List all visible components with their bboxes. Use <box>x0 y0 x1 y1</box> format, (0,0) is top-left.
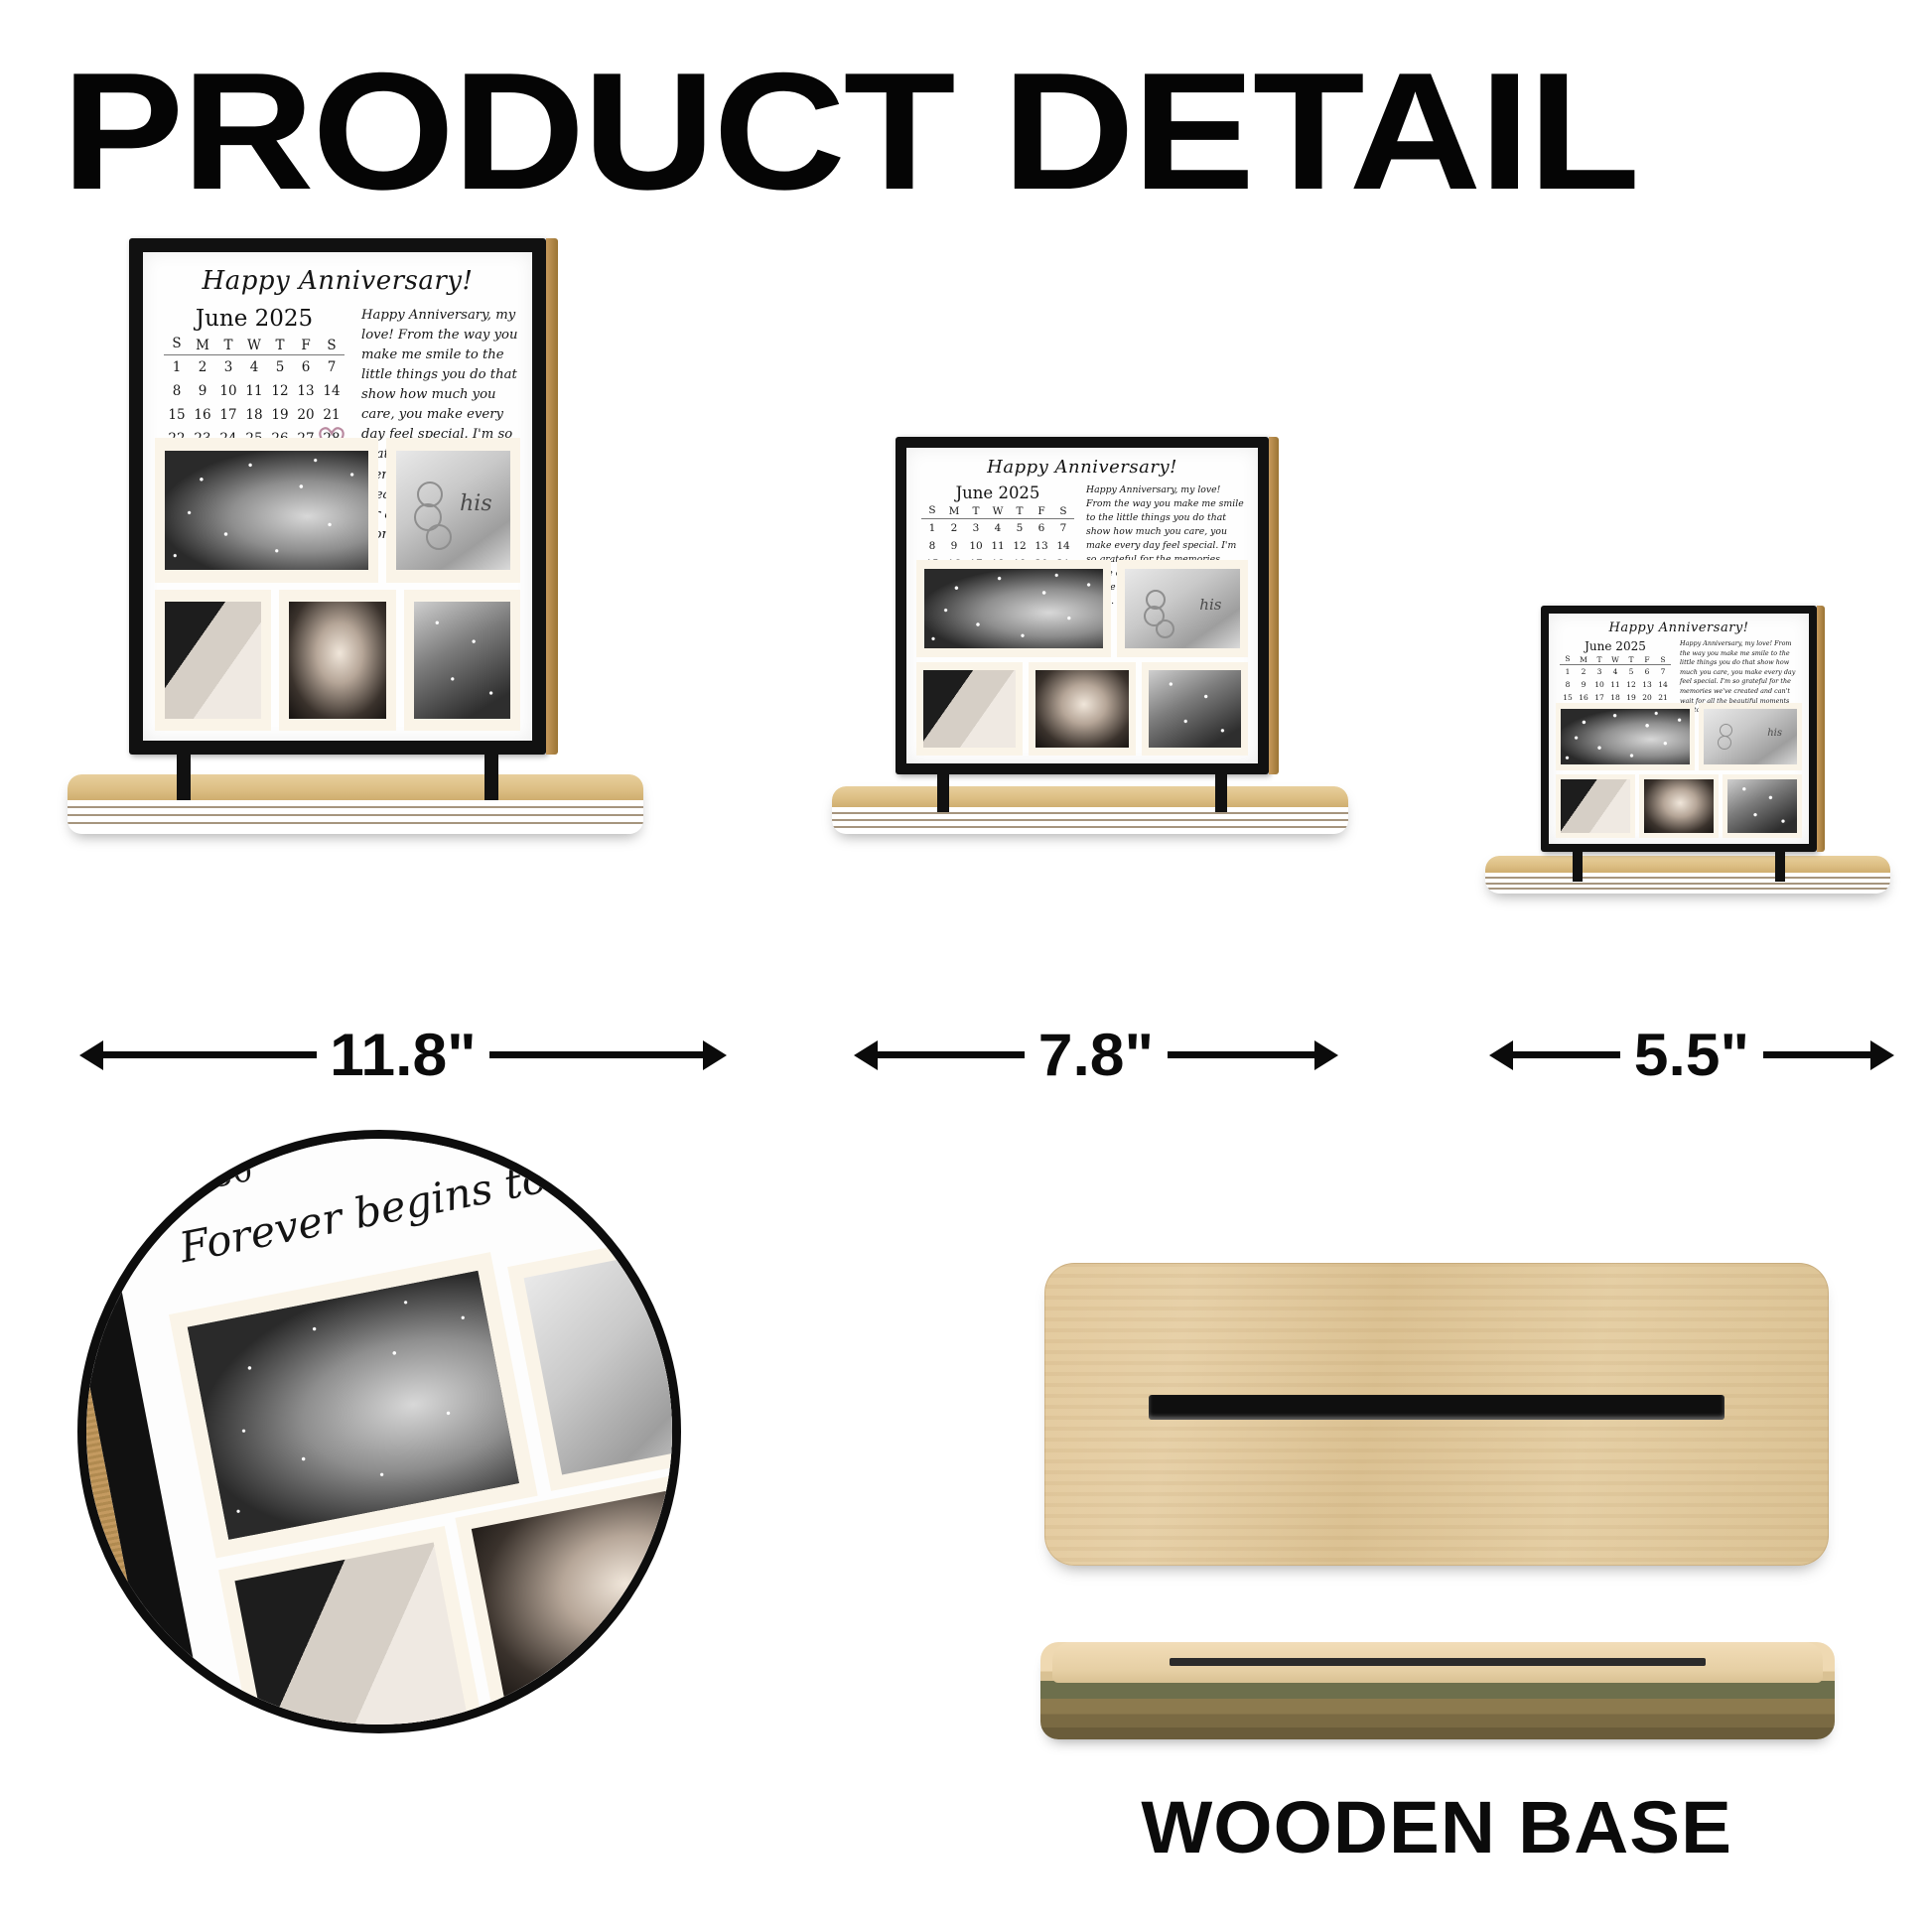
calendar-month-year-medium: June 2025 <box>917 483 1078 502</box>
wooden-base-side-view <box>1040 1642 1835 1739</box>
table-row: 891011121314 <box>921 537 1074 555</box>
kiss-photo <box>472 1477 681 1714</box>
photo-collage-medium: his <box>916 560 1248 756</box>
day-cell: 16 <box>190 403 215 427</box>
photo-mat: his <box>386 438 520 583</box>
arrow-left-icon <box>79 1040 103 1070</box>
kiss-photo <box>1644 779 1714 833</box>
first-dance-photo <box>1149 670 1241 748</box>
day-cell: 6 <box>1639 665 1655 679</box>
photo-mat <box>916 662 1023 756</box>
photo-mat <box>404 590 520 731</box>
weekday-m: M <box>190 336 215 355</box>
day-cell: 4 <box>987 519 1009 538</box>
day-cell: 9 <box>190 379 215 403</box>
weekday-t2: T <box>1009 504 1031 519</box>
base-slot-side <box>1170 1658 1706 1666</box>
confetti-exit-photo <box>1561 709 1690 764</box>
photo-mat: his <box>1699 703 1802 770</box>
calendar-header-row: S M T W T F S <box>1560 654 1671 665</box>
calendar-header-row: S M T W T F S <box>164 336 345 355</box>
first-dance-photo <box>414 602 510 719</box>
kiss-photo <box>1035 670 1128 748</box>
arrow-right-icon <box>1314 1040 1338 1070</box>
frame-wood-edge <box>1817 606 1825 852</box>
day-cell: 2 <box>943 519 965 538</box>
day-cell: 4 <box>1607 665 1623 679</box>
day-cell: 8 <box>164 379 190 403</box>
card-heading: Happy Anniversary! <box>143 266 532 296</box>
photo-mat <box>279 590 395 731</box>
day-cell: 1 <box>164 355 190 380</box>
confetti-exit-photo <box>165 451 368 570</box>
table-row: 1234567 <box>164 355 345 380</box>
day-cell: 5 <box>1009 519 1031 538</box>
dimension-label: 7.8" <box>1022 1021 1171 1089</box>
day-cell: 19 <box>267 403 293 427</box>
day-cell: 12 <box>1623 678 1639 691</box>
frame-wood-edge <box>546 238 558 755</box>
photo-mat: his <box>1117 560 1248 657</box>
arrow-left-icon <box>1489 1040 1513 1070</box>
holding-hands-photo <box>165 602 261 719</box>
photo-mat <box>916 560 1111 657</box>
his-hers-rings-photo: his <box>1125 569 1240 648</box>
day-cell: 8 <box>1560 678 1576 691</box>
day-cell: 10 <box>215 379 241 403</box>
day-cell: 17 <box>215 403 241 427</box>
weekday-w: W <box>987 504 1009 519</box>
wooden-base-label: WOODEN BASE <box>1141 1785 1732 1869</box>
day-cell: 11 <box>987 537 1009 555</box>
card-heading-small: Happy Anniversary! <box>1549 621 1809 635</box>
weekday-w: W <box>241 336 267 355</box>
kiss-photo <box>289 602 385 719</box>
arrow-right-icon <box>1870 1040 1894 1070</box>
photo-caption: his <box>1199 596 1221 614</box>
weekday-t2: T <box>1623 654 1639 665</box>
dimension-small: 5.5" <box>1489 1021 1886 1089</box>
photo-mat <box>1556 703 1695 770</box>
dimension-label: 11.8" <box>314 1021 493 1089</box>
weekday-f: F <box>1639 654 1655 665</box>
photo-collage-large: his <box>155 438 520 731</box>
day-cell: 2 <box>190 355 215 380</box>
confetti-exit-photo <box>188 1271 519 1540</box>
product-size-medium: Happy Anniversary! June 2025 S M T W T F… <box>824 437 1360 834</box>
card-heading-medium: Happy Anniversary! <box>906 457 1258 478</box>
day-cell: 13 <box>1031 537 1052 555</box>
picture-frame-large: Happy Anniversary! June 2025 S M T W T F… <box>129 238 546 755</box>
weekday-t1: T <box>965 504 987 519</box>
picture-frame-small: Happy Anniversary! June 2025 S M T W T F… <box>1541 606 1817 852</box>
day-cell: 3 <box>215 355 241 380</box>
day-cell: 4 <box>241 355 267 380</box>
weekday-s: S <box>1560 654 1576 665</box>
photo-caption: his <box>1767 728 1782 739</box>
day-cell: 9 <box>943 537 965 555</box>
day-cell: 15 <box>164 403 190 427</box>
weekday-t2: T <box>267 336 293 355</box>
picture-frame-medium: Happy Anniversary! June 2025 S M T W T F… <box>896 437 1269 774</box>
calendar-month-year-small: June 2025 <box>1557 639 1674 653</box>
day-cell: 12 <box>1009 537 1031 555</box>
day-cell: 3 <box>1591 665 1607 679</box>
page-title: PRODUCT DETAIL <box>62 48 1932 214</box>
arrow-left-icon <box>854 1040 878 1070</box>
day-cell: 12 <box>267 379 293 403</box>
dimension-large: 11.8" <box>79 1021 774 1089</box>
day-cell: 2 <box>1576 665 1591 679</box>
photo-mat <box>1029 662 1135 756</box>
frame-wood-edge <box>1269 437 1279 774</box>
weekday-f: F <box>293 336 319 355</box>
day-cell: 20 <box>293 403 319 427</box>
day-cell: 14 <box>319 379 345 403</box>
photo-collage-small: his <box>1556 703 1802 838</box>
day-cell: 6 <box>293 355 319 380</box>
base-slot <box>1149 1395 1725 1420</box>
holding-hands-photo <box>235 1542 469 1733</box>
product-size-large: Happy Anniversary! June 2025 S M T W T F… <box>60 238 655 834</box>
card-sheet-small: Happy Anniversary! June 2025 S M T W T F… <box>1549 614 1809 844</box>
card-sheet-medium: Happy Anniversary! June 2025 S M T W T F… <box>906 448 1258 763</box>
weekday-s2: S <box>1655 654 1671 665</box>
arrow-right-icon <box>703 1040 727 1070</box>
table-row: 891011121314 <box>164 379 345 403</box>
calendar-month-year: June 2025 <box>157 306 351 332</box>
weekday-s2: S <box>319 336 345 355</box>
weekday-t1: T <box>1591 654 1607 665</box>
dimension-medium: 7.8" <box>854 1021 1370 1089</box>
photo-caption: his <box>460 491 492 516</box>
table-row: 1234567 <box>921 519 1074 538</box>
table-row: 1234567 <box>1560 665 1671 679</box>
day-cell: 13 <box>1639 678 1655 691</box>
calendar-header-row: S M T W T F S <box>921 504 1074 519</box>
day-cell: 18 <box>241 403 267 427</box>
day-cell: 5 <box>267 355 293 380</box>
weekday-s2: S <box>1052 504 1074 519</box>
product-size-small: Happy Anniversary! June 2025 S M T W T F… <box>1479 606 1896 894</box>
weekday-f: F <box>1031 504 1052 519</box>
his-hers-rings-photo: his <box>1704 709 1797 764</box>
card-sheet-large: Happy Anniversary! June 2025 S M T W T F… <box>143 252 532 741</box>
weekday-t1: T <box>215 336 241 355</box>
holding-hands-photo <box>923 670 1016 748</box>
confetti-exit-photo <box>924 569 1103 648</box>
day-cell: 6 <box>1031 519 1052 538</box>
photo-mat <box>1639 774 1719 838</box>
day-cell: 11 <box>241 379 267 403</box>
day-cell: 11 <box>1607 678 1623 691</box>
weekday-m: M <box>1576 654 1591 665</box>
wooden-base-top-view <box>1044 1263 1829 1566</box>
photo-mat <box>1556 774 1635 838</box>
dimension-label: 5.5" <box>1617 1021 1766 1089</box>
day-cell: 9 <box>1576 678 1591 691</box>
table-row: 891011121314 <box>1560 678 1671 691</box>
day-cell: 7 <box>319 355 345 380</box>
detail-inset-content: 29 30 Forever begins to <box>77 1130 681 1733</box>
photo-mat <box>155 590 271 731</box>
his-hers-rings-photo: his <box>396 451 510 570</box>
first-dance-photo <box>1727 779 1797 833</box>
day-cell: 8 <box>921 537 943 555</box>
weekday-m: M <box>943 504 965 519</box>
his-hers-rings-photo <box>524 1244 681 1475</box>
wooden-base-large <box>68 774 643 834</box>
day-cell: 3 <box>965 519 987 538</box>
day-cell: 10 <box>1591 678 1607 691</box>
day-cell: 13 <box>293 379 319 403</box>
wooden-base-small <box>1485 856 1890 894</box>
day-cell: 7 <box>1655 665 1671 679</box>
day-cell: 21 <box>319 403 345 427</box>
day-cell: 10 <box>965 537 987 555</box>
day-cell: 5 <box>1623 665 1639 679</box>
photo-mat <box>1723 774 1802 838</box>
photo-mat <box>1142 662 1248 756</box>
weekday-w: W <box>1607 654 1623 665</box>
day-cell: 14 <box>1655 678 1671 691</box>
detail-zoom-inset: 29 30 Forever begins to <box>77 1130 681 1733</box>
day-cell: 7 <box>1052 519 1074 538</box>
weekday-s: S <box>164 336 190 355</box>
holding-hands-photo <box>1561 779 1630 833</box>
weekday-s: S <box>921 504 943 519</box>
wooden-base-medium <box>832 786 1348 834</box>
table-row: 15161718192021 <box>164 403 345 427</box>
day-cell: 14 <box>1052 537 1074 555</box>
day-cell: 1 <box>1560 665 1576 679</box>
photo-mat <box>155 438 378 583</box>
day-cell: 1 <box>921 519 943 538</box>
